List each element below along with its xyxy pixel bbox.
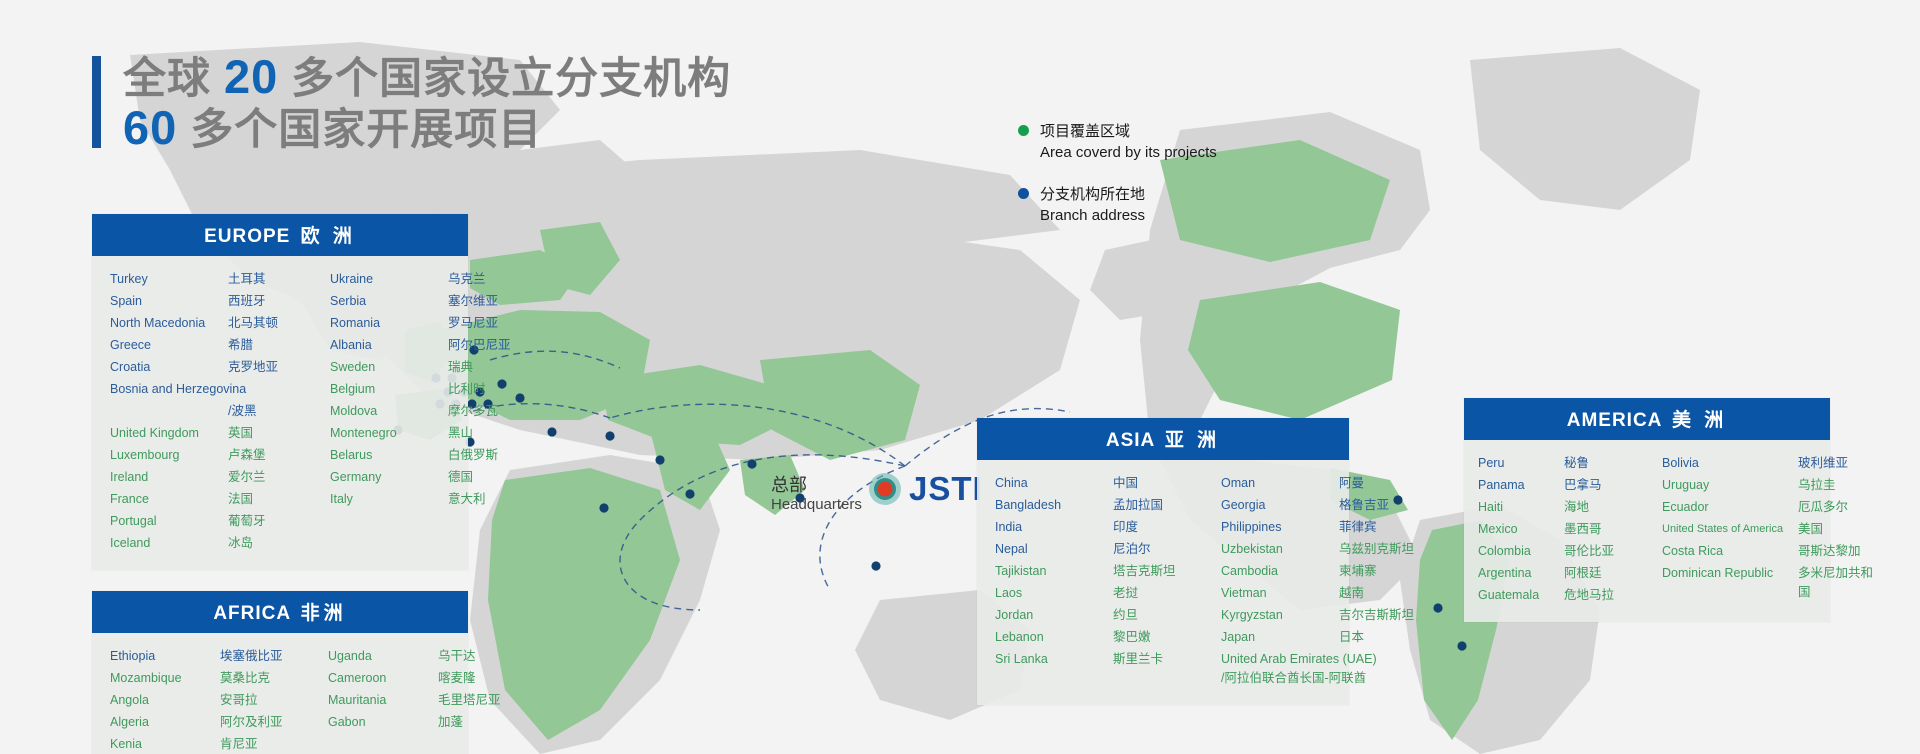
country-row: Mexico墨西哥	[1478, 520, 1650, 539]
country-cn: 斯里兰卡	[1113, 650, 1199, 669]
country-row: Peru秘鲁	[1478, 454, 1650, 473]
country-row: Turkey土耳其	[110, 270, 308, 289]
country-en: Turkey	[110, 270, 228, 289]
legend-branches-cn: 分支机构所在地	[1040, 183, 1145, 204]
country-en: Nepal	[995, 540, 1113, 559]
headquarters-en: Headquarters	[771, 496, 862, 513]
country-cn: 西班牙	[228, 292, 308, 311]
country-en: Belgium	[330, 380, 448, 399]
country-en: Vietman	[1221, 584, 1339, 603]
panel-africa-col2: Uganda乌干达 Cameroon喀麦隆 Mauritania毛里塔尼亚 Ga…	[310, 647, 528, 754]
legend-projects-cn: 项目覆盖区域	[1040, 120, 1130, 141]
country-en: Ireland	[110, 468, 228, 487]
country-row: Haiti海地	[1478, 498, 1650, 517]
country-cn: 黎巴嫩	[1113, 628, 1199, 647]
country-en: Croatia	[110, 358, 228, 377]
country-cn: 喀麦隆	[438, 669, 524, 688]
title-line1-prefix: 全球	[123, 55, 224, 103]
panel-europe-col2: Ukraine乌克兰 Serbia塞尔维亚 Romania罗马尼亚 Albani…	[312, 270, 532, 556]
country-row: China中国	[995, 474, 1199, 493]
country-en: United Kingdom	[110, 424, 228, 443]
country-row: Costa Rica哥斯达黎加	[1662, 542, 1884, 561]
country-cn: 中国	[1113, 474, 1199, 493]
map-legend: 项目覆盖区域 Area coverd by its projects 分支机构所…	[1018, 120, 1217, 246]
country-en: Ecuador	[1662, 498, 1798, 517]
country-row: Albania阿尔巴尼亚	[330, 336, 528, 355]
country-en: Greece	[110, 336, 228, 355]
country-en: Sri Lanka	[995, 650, 1113, 669]
country-en: Sweden	[330, 358, 448, 377]
country-row: Ukraine乌克兰	[330, 270, 528, 289]
country-cn: 柬埔寨	[1339, 562, 1425, 581]
country-cn: 爱尔兰	[228, 468, 308, 487]
country-row: Kenia肯尼亚	[110, 735, 306, 754]
country-en: Laos	[995, 584, 1113, 603]
country-row: Dominican Republic多米尼加共和国	[1662, 564, 1884, 602]
country-en: Luxembourg	[110, 446, 228, 465]
country-en: Dominican Republic	[1662, 564, 1798, 602]
country-row: Uganda乌干达	[328, 647, 524, 666]
country-cn: 哥斯达黎加	[1798, 542, 1884, 561]
country-en: Ethiopia	[110, 647, 220, 666]
country-row: Uzbekistan乌兹别克斯坦	[1221, 540, 1425, 559]
country-en: Moldova	[330, 402, 448, 421]
title-line2-suffix: 多个国家开展项目	[177, 106, 542, 154]
panel-asia-col2: Oman阿曼 Georgia格鲁吉亚 Philippines菲律宾 Uzbeki…	[1203, 474, 1429, 691]
country-en: Philippines	[1221, 518, 1339, 537]
country-en: Kyrgyzstan	[1221, 606, 1339, 625]
country-cn: 卢森堡	[228, 446, 308, 465]
world-map-infographic: 全球 20 多个国家设立分支机构 60 多个国家开展项目 项目覆盖区域 Area…	[0, 0, 1920, 754]
country-cn: 加蓬	[438, 713, 524, 732]
panel-asia: ASIA 亚 洲 China中国 Bangladesh孟加拉国 India印度 …	[977, 418, 1349, 705]
country-row: Bosnia and Herzegovina	[110, 380, 308, 399]
country-row: North Macedonia北马其顿	[110, 314, 308, 333]
title-line1-number: 20	[224, 50, 278, 103]
country-cn: 乌克兰	[448, 270, 528, 289]
country-cn: 尼泊尔	[1113, 540, 1199, 559]
country-cn: 约旦	[1113, 606, 1199, 625]
country-row: Algeria阿尔及利亚	[110, 713, 306, 732]
country-en: Spain	[110, 292, 228, 311]
country-en: Uruguay	[1662, 476, 1798, 495]
panel-america-col1: Peru秘鲁 Panama巴拿马 Haiti海地 Mexico墨西哥 Colom…	[1464, 454, 1654, 608]
legend-blue-dot-icon	[1018, 188, 1029, 199]
panel-asia-title-en: ASIA	[1106, 430, 1155, 451]
country-cn: 摩尔多瓦	[448, 402, 528, 421]
country-en: Angola	[110, 691, 220, 710]
country-en: United States of America	[1662, 520, 1798, 539]
page-title: 全球 20 多个国家设立分支机构 60 多个国家开展项目	[92, 52, 731, 154]
country-cn: 塞尔维亚	[448, 292, 528, 311]
country-cn: 墨西哥	[1564, 520, 1650, 539]
country-cn: 比利时	[448, 380, 528, 399]
panel-europe: EUROPE 欧 洲 Turkey土耳其 Spain西班牙 North Mace…	[92, 214, 468, 570]
country-cn: 美国	[1798, 520, 1884, 539]
country-en: Germany	[330, 468, 448, 487]
panel-europe-header: EUROPE 欧 洲	[92, 214, 468, 256]
country-en: Bolivia	[1662, 454, 1798, 473]
panel-africa-col1: Ethiopia埃塞俄比亚 Mozambique莫桑比克 Angola安哥拉 A…	[92, 647, 310, 754]
panel-asia-header: ASIA 亚 洲	[977, 418, 1349, 460]
country-en: Oman	[1221, 474, 1339, 493]
country-cn: 格鲁吉亚	[1339, 496, 1425, 515]
country-en: India	[995, 518, 1113, 537]
panel-europe-col1: Turkey土耳其 Spain西班牙 North Macedonia北马其顿 G…	[92, 270, 312, 556]
country-row: Ecuador厄瓜多尔	[1662, 498, 1884, 517]
country-cn: 土耳其	[228, 270, 308, 289]
country-cn: 安哥拉	[220, 691, 306, 710]
country-en: Jordan	[995, 606, 1113, 625]
panel-america: AMERICA 美 洲 Peru秘鲁 Panama巴拿马 Haiti海地 Mex…	[1464, 398, 1830, 622]
legend-item-projects: 项目覆盖区域 Area coverd by its projects	[1018, 120, 1217, 161]
country-cn: 克罗地亚	[228, 358, 308, 377]
country-row: Guatemala危地马拉	[1478, 586, 1650, 605]
country-row: Ethiopia埃塞俄比亚	[110, 647, 306, 666]
country-row: Cambodia柬埔寨	[1221, 562, 1425, 581]
country-en: Georgia	[1221, 496, 1339, 515]
country-cn: 北马其顿	[228, 314, 308, 333]
country-cn: 乌拉圭	[1798, 476, 1884, 495]
country-en: Bosnia and Herzegovina	[110, 380, 246, 399]
panel-america-title-cn: 美 洲	[1672, 410, 1727, 431]
country-row: Angola安哥拉	[110, 691, 306, 710]
country-en: Romania	[330, 314, 448, 333]
country-en: Bangladesh	[995, 496, 1113, 515]
country-row: Laos老挝	[995, 584, 1199, 603]
country-cn: 毛里塔尼亚	[438, 691, 524, 710]
country-cn: /波黑	[228, 402, 308, 421]
country-row: Sri Lanka斯里兰卡	[995, 650, 1199, 669]
country-cn: 海地	[1564, 498, 1650, 517]
country-row: Gabon加蓬	[328, 713, 524, 732]
country-row: Philippines菲律宾	[1221, 518, 1425, 537]
panel-america-title-en: AMERICA	[1567, 410, 1662, 431]
country-cn: 哥伦比亚	[1564, 542, 1650, 561]
country-en: Albania	[330, 336, 448, 355]
country-en: Lebanon	[995, 628, 1113, 647]
country-row: India印度	[995, 518, 1199, 537]
country-row-cont: /波黑	[110, 402, 308, 421]
country-cn: 日本	[1339, 628, 1425, 647]
panel-asia-col1: China中国 Bangladesh孟加拉国 India印度 Nepal尼泊尔 …	[977, 474, 1203, 691]
panel-africa-title-cn: 非洲	[301, 603, 347, 624]
panel-africa-title-en: AFRICA	[213, 603, 290, 624]
legend-projects-en: Area coverd by its projects	[1040, 144, 1217, 161]
country-cn: 意大利	[448, 490, 528, 509]
country-row: Cameroon喀麦隆	[328, 669, 524, 688]
country-cn: 乌干达	[438, 647, 524, 666]
country-cn: 菲律宾	[1339, 518, 1425, 537]
country-row: Panama巴拿马	[1478, 476, 1650, 495]
title-accent-bar	[92, 56, 101, 148]
country-en: Portugal	[110, 512, 228, 531]
country-en: Serbia	[330, 292, 448, 311]
country-cn: 德国	[448, 468, 528, 487]
country-cn: 阿尔及利亚	[220, 713, 306, 732]
country-row: Colombia哥伦比亚	[1478, 542, 1650, 561]
country-row: United Kingdom英国	[110, 424, 308, 443]
country-en: Uganda	[328, 647, 438, 666]
country-en: Ukraine	[330, 270, 448, 289]
country-row: Belgium比利时	[330, 380, 528, 399]
country-row: Japan日本	[1221, 628, 1425, 647]
country-cn: 罗马尼亚	[448, 314, 528, 333]
country-en: Colombia	[1478, 542, 1564, 561]
legend-branches-en: Branch address	[1040, 207, 1217, 224]
headquarters-label: 总部 Headquarters	[771, 475, 862, 513]
country-cn: 埃塞俄比亚	[220, 647, 306, 666]
country-cn: 希腊	[228, 336, 308, 355]
country-en: Cambodia	[1221, 562, 1339, 581]
panel-africa: AFRICA 非洲 Ethiopia埃塞俄比亚 Mozambique莫桑比克 A…	[92, 591, 468, 754]
country-en: Algeria	[110, 713, 220, 732]
country-row: Mauritania毛里塔尼亚	[328, 691, 524, 710]
country-row: Bangladesh孟加拉国	[995, 496, 1199, 515]
country-en: Haiti	[1478, 498, 1564, 517]
country-row: Croatia克罗地亚	[110, 358, 308, 377]
country-cn: 塔吉克斯坦	[1113, 562, 1199, 581]
country-row: Montenegro黑山	[330, 424, 528, 443]
country-cn: 阿根廷	[1564, 564, 1650, 583]
title-line1-suffix: 多个国家设立分支机构	[278, 55, 731, 103]
country-cn: 白俄罗斯	[448, 446, 528, 465]
country-cn: 多米尼加共和国	[1798, 564, 1884, 602]
country-row: France法国	[110, 490, 308, 509]
country-cn: 葡萄牙	[228, 512, 308, 531]
country-en: Mexico	[1478, 520, 1564, 539]
country-cn: 黑山	[448, 424, 528, 443]
country-cn: /阿拉伯联合酋长国-阿联酋	[1221, 669, 1425, 688]
panel-europe-title-en: EUROPE	[204, 226, 290, 247]
country-row: Portugal葡萄牙	[110, 512, 308, 531]
country-en: Kenia	[110, 735, 220, 754]
country-cn: 吉尔吉斯斯坦	[1339, 606, 1425, 625]
country-row: Iceland冰岛	[110, 534, 308, 553]
country-en: Uzbekistan	[1221, 540, 1339, 559]
country-row: Nepal尼泊尔	[995, 540, 1199, 559]
country-en: Mozambique	[110, 669, 220, 688]
country-cn: 巴拿马	[1564, 476, 1650, 495]
panel-europe-title-cn: 欧 洲	[301, 226, 356, 247]
country-en: Italy	[330, 490, 448, 509]
country-cn: 英国	[228, 424, 308, 443]
country-row: Uruguay乌拉圭	[1662, 476, 1884, 495]
country-row: Sweden瑞典	[330, 358, 528, 377]
country-cn: 危地马拉	[1564, 586, 1650, 605]
country-en: Peru	[1478, 454, 1564, 473]
country-cn: 越南	[1339, 584, 1425, 603]
country-row: Moldova摩尔多瓦	[330, 402, 528, 421]
panel-asia-title-cn: 亚 洲	[1165, 430, 1220, 451]
country-row: Ireland爱尔兰	[110, 468, 308, 487]
country-en: North Macedonia	[110, 314, 228, 333]
title-line-2: 60 多个国家开展项目	[123, 103, 731, 154]
country-cn: 孟加拉国	[1113, 496, 1199, 515]
country-cn: 老挝	[1113, 584, 1199, 603]
country-cn: 阿尔巴尼亚	[448, 336, 528, 355]
country-en: Mauritania	[328, 691, 438, 710]
country-row: Romania罗马尼亚	[330, 314, 528, 333]
country-row: Jordan约旦	[995, 606, 1199, 625]
country-row: Germany德国	[330, 468, 528, 487]
headquarters-marker-icon	[868, 472, 902, 506]
panel-america-header: AMERICA 美 洲	[1464, 398, 1830, 440]
country-en: Argentina	[1478, 564, 1564, 583]
country-cn: 莫桑比克	[220, 669, 306, 688]
headquarters-cn: 总部	[771, 475, 862, 496]
country-cn: 肯尼亚	[220, 735, 306, 754]
country-row: Greece希腊	[110, 336, 308, 355]
country-row: Georgia格鲁吉亚	[1221, 496, 1425, 515]
country-cn: 法国	[228, 490, 308, 509]
country-row: United States of America美国	[1662, 520, 1884, 539]
country-row: Argentina阿根廷	[1478, 564, 1650, 583]
country-cn: 瑞典	[448, 358, 528, 377]
panel-africa-header: AFRICA 非洲	[92, 591, 468, 633]
country-en: Costa Rica	[1662, 542, 1798, 561]
country-cn: 乌兹别克斯坦	[1339, 540, 1425, 559]
country-row-uae: United Arab Emirates (UAE) /阿拉伯联合酋长国-阿联酋	[1221, 650, 1425, 688]
country-en: Japan	[1221, 628, 1339, 647]
country-row: Luxembourg卢森堡	[110, 446, 308, 465]
country-cn: 厄瓜多尔	[1798, 498, 1884, 517]
country-en: Gabon	[328, 713, 438, 732]
country-cn: 印度	[1113, 518, 1199, 537]
country-en: France	[110, 490, 228, 509]
country-row: Belarus白俄罗斯	[330, 446, 528, 465]
country-row: Oman阿曼	[1221, 474, 1425, 493]
country-row: Lebanon黎巴嫩	[995, 628, 1199, 647]
country-cn: 秘鲁	[1564, 454, 1650, 473]
country-row: Bolivia玻利维亚	[1662, 454, 1884, 473]
country-en: Montenegro	[330, 424, 448, 443]
country-en: Panama	[1478, 476, 1564, 495]
legend-green-dot-icon	[1018, 125, 1029, 136]
title-line-1: 全球 20 多个国家设立分支机构	[123, 52, 731, 103]
country-row: Italy意大利	[330, 490, 528, 509]
country-en: Tajikistan	[995, 562, 1113, 581]
country-row: Spain西班牙	[110, 292, 308, 311]
country-cn: 玻利维亚	[1798, 454, 1884, 473]
country-row: Tajikistan塔吉克斯坦	[995, 562, 1199, 581]
country-en: Iceland	[110, 534, 228, 553]
country-en: Belarus	[330, 446, 448, 465]
country-en: China	[995, 474, 1113, 493]
country-cn: 阿曼	[1339, 474, 1425, 493]
country-cn: 冰岛	[228, 534, 308, 553]
jsti-logo: JSTI	[868, 470, 983, 508]
jsti-wordmark: JSTI	[909, 470, 983, 508]
country-row: Mozambique莫桑比克	[110, 669, 306, 688]
country-row: Serbia塞尔维亚	[330, 292, 528, 311]
legend-item-branches: 分支机构所在地 Branch address	[1018, 183, 1217, 224]
country-row: Kyrgyzstan吉尔吉斯斯坦	[1221, 606, 1425, 625]
country-row: Vietman越南	[1221, 584, 1425, 603]
country-en: Cameroon	[328, 669, 438, 688]
country-en: United Arab Emirates (UAE)	[1221, 650, 1425, 669]
title-line2-number: 60	[123, 101, 177, 154]
country-en: Guatemala	[1478, 586, 1564, 605]
panel-america-col2: Bolivia玻利维亚 Uruguay乌拉圭 Ecuador厄瓜多尔 Unite…	[1654, 454, 1888, 608]
